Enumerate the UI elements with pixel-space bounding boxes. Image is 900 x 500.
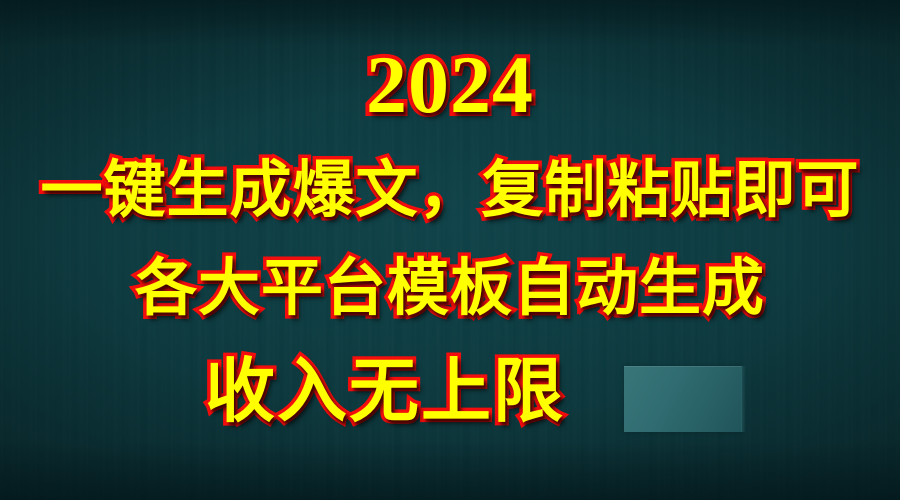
tagline-line-2: 各大平台模板自动生成 <box>0 258 900 320</box>
redaction-patch <box>624 366 742 432</box>
tagline-line-1: 一键生成爆文，复制粘贴即可 <box>0 160 900 222</box>
promo-poster: 2024 一键生成爆文，复制粘贴即可 各大平台模板自动生成 收入无上限 <box>0 0 900 500</box>
poster-text-block: 2024 一键生成爆文，复制粘贴即可 各大平台模板自动生成 收入无上限 <box>0 0 900 500</box>
headline-year: 2024 <box>0 44 900 126</box>
